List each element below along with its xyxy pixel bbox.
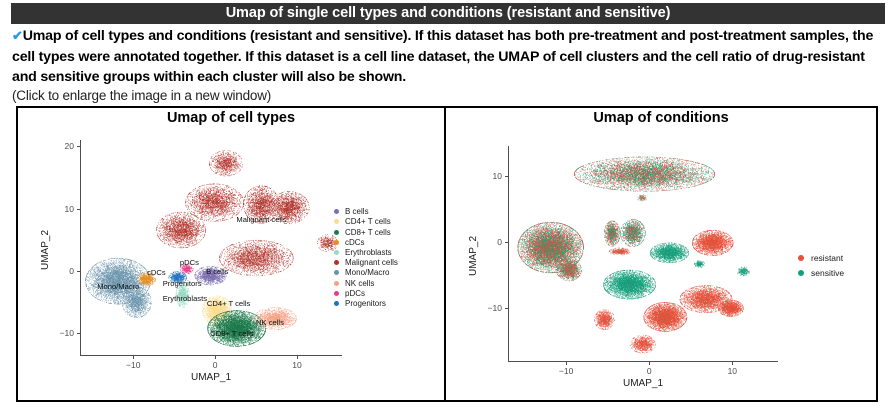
legend-color-dot-icon — [798, 270, 804, 276]
legend-item-label: CD8+ T cells — [345, 228, 391, 237]
legend-color-dot-icon — [334, 230, 339, 235]
legend-item[interactable]: Progenitors — [334, 299, 398, 309]
legend-item-label: CD4+ T cells — [345, 217, 391, 226]
y-axis-title: UMAP_2 — [40, 229, 51, 269]
legend-color-dot-icon — [334, 209, 339, 214]
legend-item-label: B cells — [345, 207, 369, 216]
x-axis-title: UMAP_1 — [603, 378, 683, 389]
legend-item[interactable]: CD4+ T cells — [334, 217, 398, 227]
legend-color-dot-icon — [334, 260, 339, 265]
legend-item-label: Erythroblasts — [345, 248, 392, 257]
legend-color-dot-icon — [334, 301, 339, 306]
x-axis-title: UMAP_1 — [171, 372, 251, 383]
figure-card: Umap of single cell types and conditions… — [0, 0, 895, 409]
card-title-bar: Umap of single cell types and conditions… — [11, 3, 885, 24]
check-icon: ✔ — [12, 28, 23, 43]
legend-color-dot-icon — [334, 250, 339, 255]
legend-item[interactable]: CD8+ T cells — [334, 227, 398, 237]
legend-item-label: NK cells — [345, 279, 374, 288]
legend-item[interactable]: Mono/Macro — [334, 268, 398, 278]
legend-item[interactable]: B cells — [334, 207, 398, 217]
legend-item[interactable]: Erythroblasts — [334, 248, 398, 258]
legend-item-label: Mono/Macro — [345, 268, 389, 277]
legend-item-label: sensitive — [811, 268, 844, 278]
scatter-points — [70, 130, 352, 365]
legend-conditions[interactable]: resistantsensitive — [798, 252, 844, 282]
legend-color-dot-icon — [798, 255, 804, 261]
panel-conditions: Umap of conditions −10010−10010UMAP_1UMA… — [446, 108, 876, 400]
legend-item-label: Progenitors — [345, 299, 386, 308]
legend-item-label: Malignant cells — [345, 258, 398, 267]
figure-frame[interactable]: Umap of cell types −1001020−10010UMAP_1U… — [16, 106, 878, 402]
panel-cell-types: Umap of cell types −1001020−10010UMAP_1U… — [18, 108, 444, 400]
legend-item[interactable]: cDCs — [334, 238, 398, 248]
legend-item[interactable]: NK cells — [334, 278, 398, 288]
y-axis-title: UMAP_2 — [468, 235, 479, 275]
legend-color-dot-icon — [334, 281, 339, 286]
legend-color-dot-icon — [334, 291, 339, 296]
description-text: Umap of cell types and conditions (resis… — [12, 28, 873, 85]
legend-item[interactable]: pDCs — [334, 289, 398, 299]
card-title-text: Umap of single cell types and conditions… — [226, 5, 671, 21]
enlarge-hint[interactable]: (Click to enlarge the image in a new win… — [12, 88, 271, 103]
legend-color-dot-icon — [334, 240, 339, 245]
legend-color-dot-icon — [334, 219, 339, 224]
legend-item-label: cDCs — [345, 238, 365, 247]
legend-item[interactable]: resistant — [798, 252, 844, 264]
scatter-points — [498, 136, 788, 371]
legend-item[interactable]: Malignant cells — [334, 258, 398, 268]
legend-item[interactable]: sensitive — [798, 267, 844, 279]
legend-color-dot-icon — [334, 270, 339, 275]
legend-item-label: resistant — [811, 253, 843, 263]
legend-item-label: pDCs — [345, 289, 365, 298]
card-description: ✔Umap of cell types and conditions (resi… — [12, 26, 882, 88]
legend-cell-types[interactable]: B cellsCD4+ T cellsCD8+ T cellscDCsEryth… — [334, 207, 398, 309]
